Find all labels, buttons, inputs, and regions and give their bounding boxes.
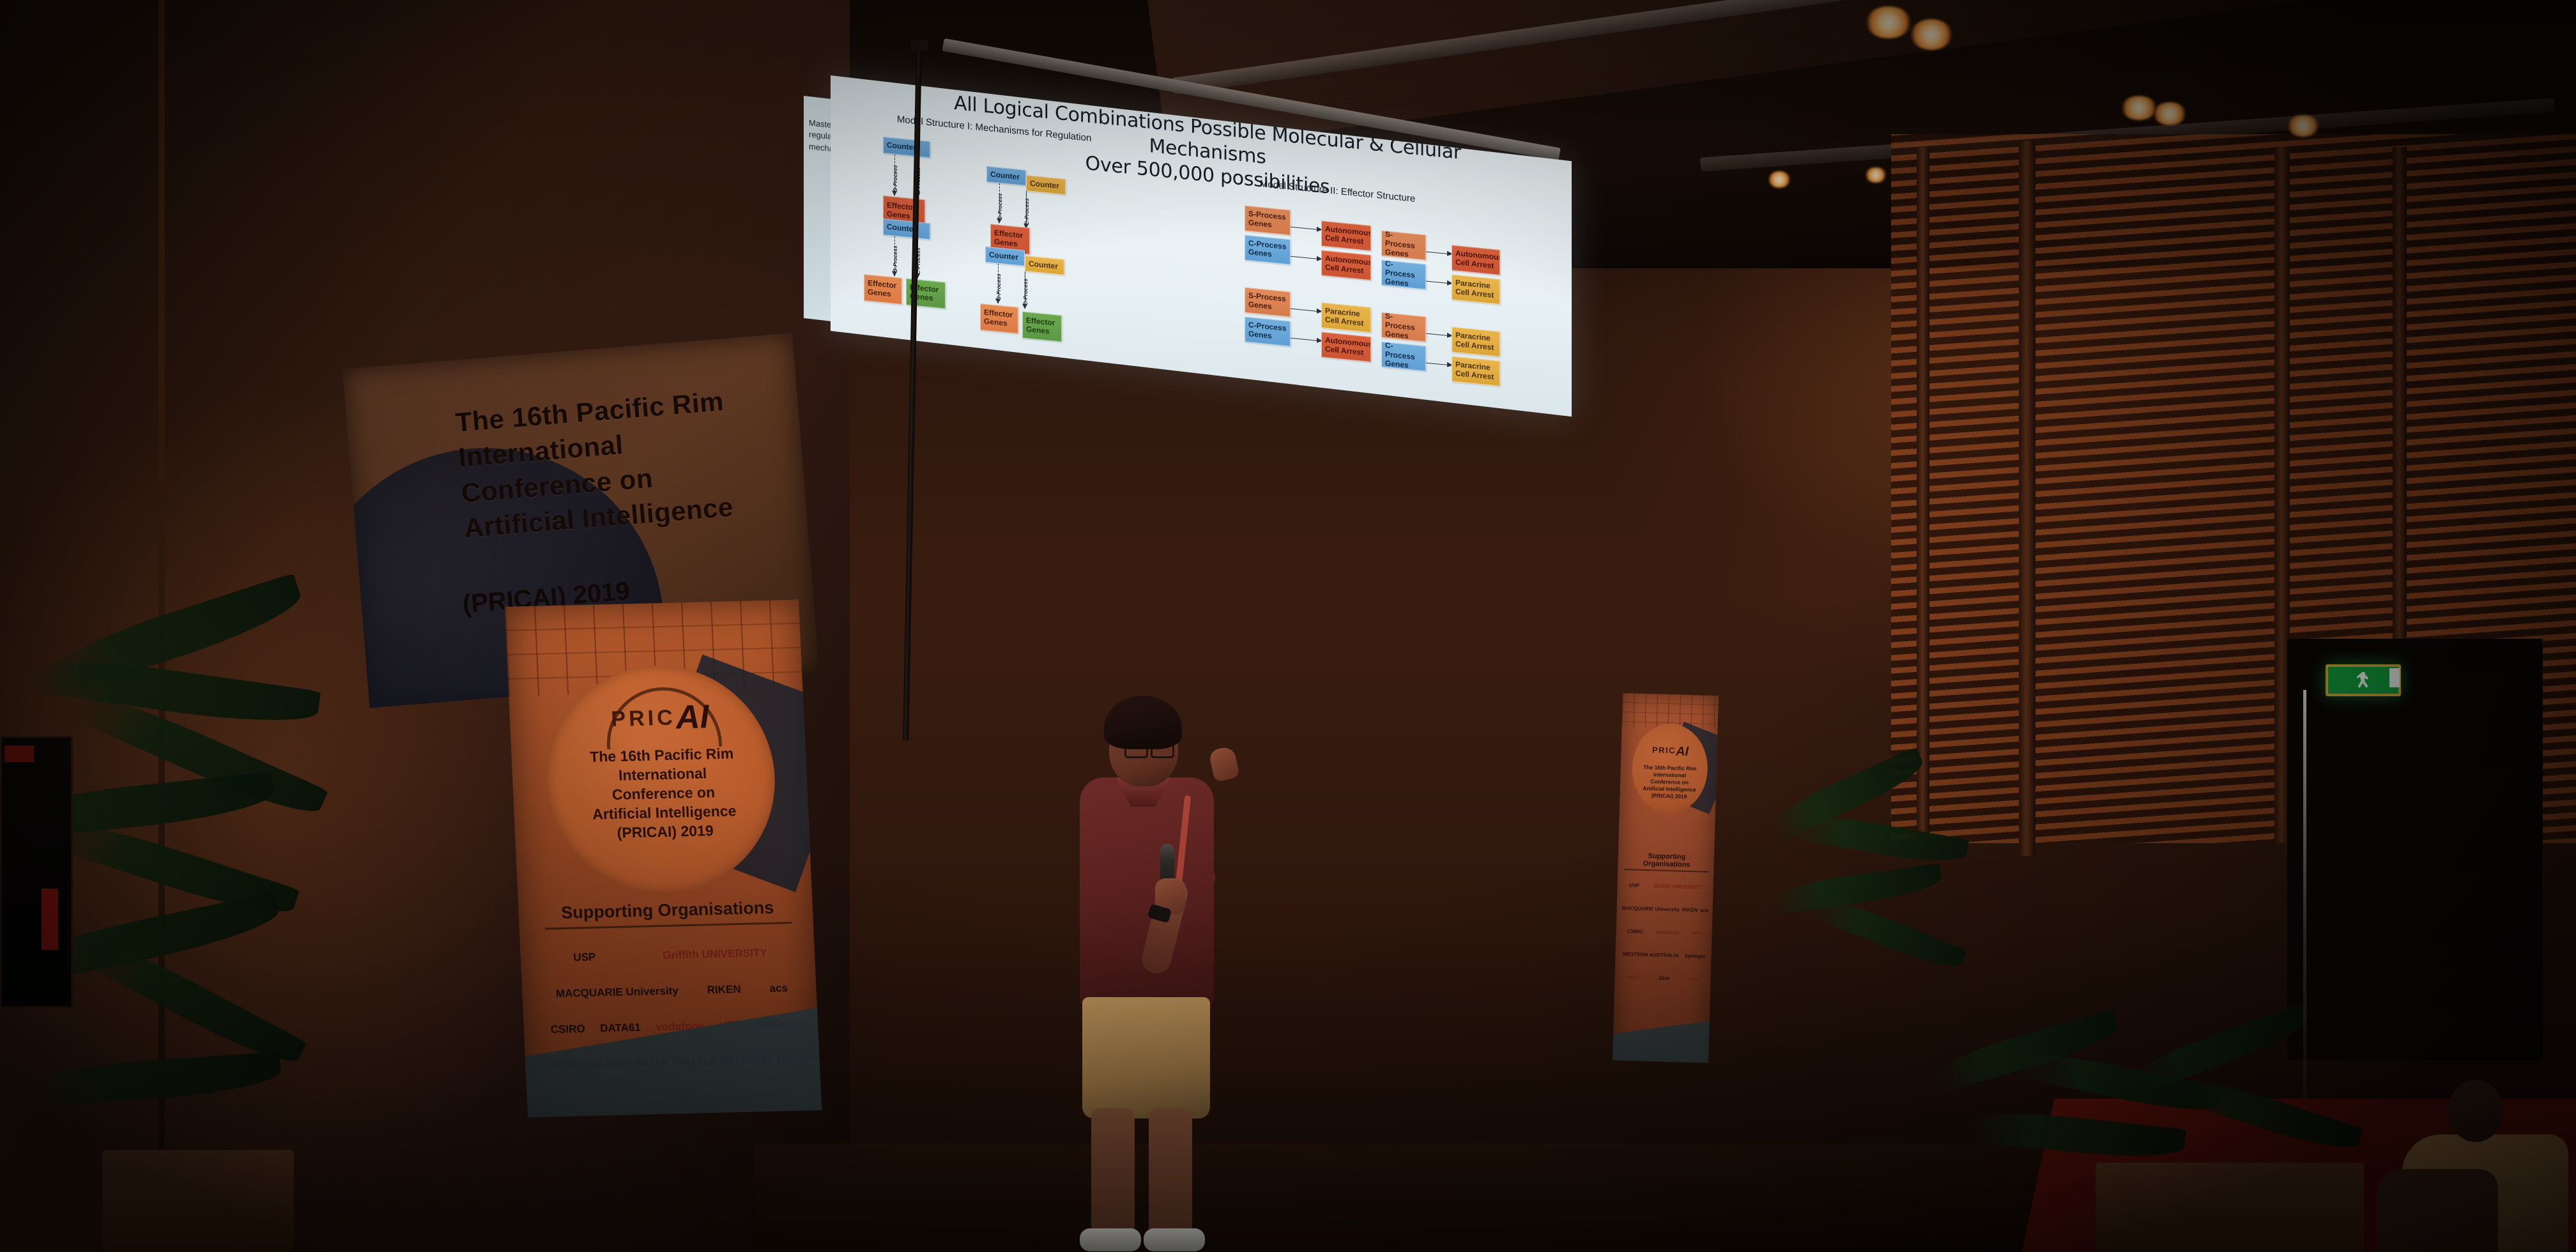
effector-genes-box: Effector Genes	[980, 303, 1018, 334]
s-process-genes-box: S-Process Genes	[1245, 206, 1291, 236]
sponsor-row: USP Griffith UNIVERSITY	[542, 935, 799, 977]
stage-monitor-cabinet	[0, 736, 73, 1008]
s-process-label: S-Process	[892, 245, 898, 273]
effector-genes-box: Effector Genes	[1022, 311, 1062, 342]
c-process-genes-box: C-Process Genes	[1381, 260, 1426, 290]
sponsor-logo-csiro: CSIRO	[1627, 928, 1643, 935]
projector-pole-cap	[910, 39, 928, 52]
ceiling-spotlight	[1866, 167, 1886, 183]
cabinet-label	[4, 745, 34, 762]
pricai-logo-ai: AI	[1676, 744, 1689, 759]
pricai-logo-text: PRIC	[1652, 745, 1676, 755]
s-process-label: S-Process	[892, 165, 898, 192]
sponsor-logo-acs: acs	[769, 982, 788, 995]
presenter-shoe	[1144, 1228, 1205, 1251]
c-process-label: C-Process	[1022, 278, 1029, 305]
s-process-genes-box: S-Process Genes	[1381, 231, 1426, 261]
ceiling-spotlight	[2153, 102, 2186, 125]
presenter-leg	[1091, 1108, 1135, 1242]
sponsor-row: CSIRO vodafone HFC	[1621, 919, 1708, 945]
sponsor-logo-data61: DATA61	[600, 1021, 641, 1035]
wall-post	[2019, 141, 2035, 856]
presenter-shoe	[1080, 1228, 1141, 1251]
exit-door-icon	[2389, 668, 2400, 687]
counter-box: Counter	[986, 166, 1026, 186]
sponsor-row: MACQUARIE University RIKEN acs	[1621, 896, 1709, 922]
ceiling-spotlight	[1866, 6, 1912, 38]
sponsor-logo-griffith: Griffith UNIVERSITY	[663, 947, 767, 962]
s-process-label: S-Process	[997, 193, 1003, 220]
sponsor-logo-riken: RIKEN	[707, 983, 741, 996]
sponsor-logo-grid: USP Griffith UNIVERSITY MACQUARIE Univer…	[1620, 873, 1710, 991]
c-process-genes-box: C-Process Genes	[1381, 342, 1426, 372]
presenter	[1054, 687, 1271, 1252]
pricai-logo-ai: AI	[675, 698, 710, 737]
s-process-genes-box: S-Process Genes	[1381, 312, 1426, 342]
paracrine-cell-arrest-box: Paracrine Cell Arrest	[1321, 302, 1371, 333]
autonomous-cell-arrest-box: Autonomous Cell Arrest	[1321, 220, 1371, 251]
c-process-genes-box: C-Process Genes	[1245, 235, 1291, 265]
rollup-conference-name: The 16th Pacific Rim International Confe…	[1629, 763, 1710, 800]
counter-box: Counter	[1026, 175, 1066, 195]
pricai-logo: PRICAI	[573, 697, 747, 740]
wall-seam	[158, 0, 165, 1252]
presenter-shorts	[1082, 997, 1210, 1118]
paracrine-cell-arrest-box: Paracrine Cell Arrest	[1452, 356, 1500, 386]
sponsor-logo-usp: USP	[1629, 882, 1639, 888]
sponsor-logo-csiro: CSIRO	[550, 1023, 585, 1036]
c-process-genes-box: C-Process Genes	[1245, 317, 1291, 347]
sponsor-logo-vodafone: vodafone	[1656, 929, 1679, 935]
effector-arrow	[1426, 333, 1448, 336]
doorway	[2287, 639, 2543, 1060]
autonomous-cell-arrest-box: Autonomous Cell Arrest	[1321, 332, 1371, 362]
ceiling-spotlight	[1910, 19, 1952, 50]
rollup-banner-right: PRICAI The 16th Pacific Rim Internationa…	[1613, 693, 1719, 1063]
sponsor-logo-hfc: HFC	[1692, 930, 1703, 936]
paracrine-cell-arrest-box: Paracrine Cell Arrest	[1452, 326, 1500, 356]
sponsor-logo-acs: acs	[1700, 907, 1709, 913]
glasses-icon	[1124, 742, 1174, 756]
standing-light-strip	[2303, 690, 2306, 1099]
sponsor-logo-jsai: JSAI	[1658, 975, 1669, 981]
banner-footer-graphic	[1613, 1020, 1719, 1063]
sponsor-logo-macquarie: MACQUARIE University	[1622, 905, 1680, 913]
audience-head	[2448, 1080, 2503, 1142]
counter-box: Counter	[1025, 256, 1064, 275]
ceiling-spotlight	[2287, 115, 2319, 137]
rollup-name-line-5: (PRICAI) 2019	[1629, 791, 1709, 800]
sponsor-logo-ncg: NCG	[1629, 974, 1640, 980]
effector-arrow	[1291, 338, 1317, 341]
wall-banner-title: The 16th Pacific Rim International Confe…	[454, 379, 784, 546]
autonomous-cell-arrest-box: Autonomous Cell Arrest	[1321, 250, 1371, 280]
running-person-icon	[2356, 672, 2370, 689]
effector-arrow	[1291, 309, 1317, 312]
c-process-label: C-Process	[1023, 198, 1030, 225]
effector-arrow	[1291, 256, 1317, 259]
pricai-logo-text: PRIC	[611, 705, 677, 731]
paracrine-cell-arrest-box: Paracrine Cell Arrest	[1452, 274, 1500, 304]
ceiling-spotlight	[1768, 171, 1790, 188]
sponsor-logo-western-australia: WESTERN AUSTRALIA	[1622, 951, 1678, 958]
rollup-banner-left: PRICAI The 16th Pacific Rim Internationa…	[505, 600, 822, 1117]
s-process-genes-box: S-Process Genes	[1245, 287, 1291, 317]
cabinet-label	[42, 889, 58, 950]
s-process-label: S-Process	[995, 273, 1002, 301]
audience-member	[2377, 1080, 2576, 1252]
supporting-organisations-title: Supporting Organisations	[544, 897, 792, 929]
sponsor-logo-macquarie: MACQUARIE University	[556, 984, 679, 1000]
audience-shoulder	[2377, 1169, 2498, 1252]
effector-arrow	[1426, 363, 1448, 365]
sponsor-logo-springer: Springer	[1685, 952, 1706, 959]
sponsor-row: WESTERN AUSTRALIA Springer	[1620, 942, 1708, 968]
presenter-raised-hand	[1208, 745, 1240, 782]
effector-genes-box: Effector Genes	[864, 274, 902, 305]
autonomous-cell-arrest-box: Autonomous Cell Arrest	[1452, 245, 1500, 275]
sponsor-logo-griffith: Griffith UNIVERSITY	[1654, 883, 1703, 890]
sponsor-logo-riken: RIKEN	[1682, 906, 1698, 913]
effector-arrow	[1426, 281, 1448, 284]
sponsor-row: USP Griffith UNIVERSITY	[1622, 873, 1710, 899]
effector-arrow	[1426, 252, 1448, 254]
wall-post	[1917, 147, 1929, 850]
presenter-torso	[1080, 777, 1214, 1007]
presenter-leg	[1149, 1108, 1192, 1242]
sponsor-row: MACQUARIE University RIKEN acs	[543, 970, 801, 1012]
presentation-scene: The 16th Pacific Rim International Confe…	[0, 0, 2576, 1252]
supporting-organisations-title: Supporting Organisations	[1624, 851, 1709, 873]
sponsor-logo-aiai: AiAi	[1688, 976, 1698, 982]
effector-arrow	[1291, 227, 1317, 230]
sponsor-logo-usp: USP	[573, 951, 596, 965]
rollup-conference-name: The 16th Pacific Rim International Confe…	[561, 744, 766, 844]
ceiling-spotlight	[2121, 96, 2157, 120]
sponsor-row: NCG JSAI AiAi	[1620, 965, 1707, 991]
counter-box: Counter	[985, 247, 1025, 266]
emergency-exit-sign	[2326, 664, 2401, 696]
pricai-logo: PRICAI	[1634, 744, 1707, 760]
